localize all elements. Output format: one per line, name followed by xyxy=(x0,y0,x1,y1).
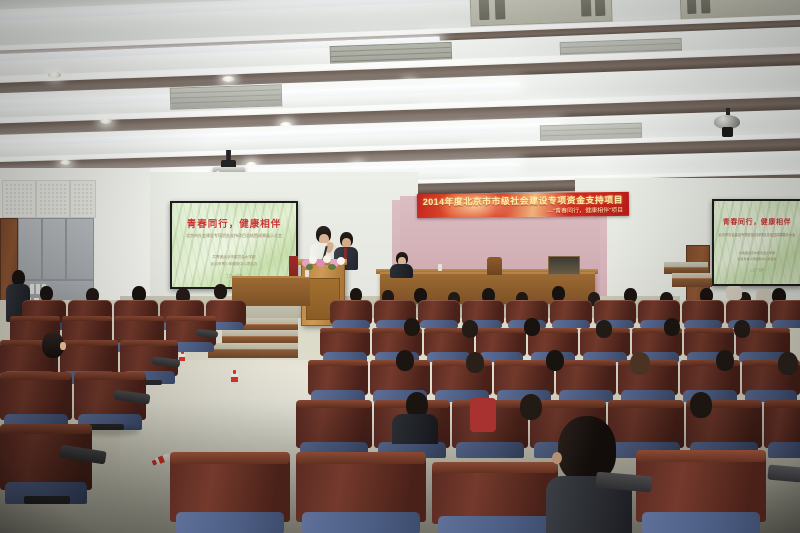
downlight xyxy=(60,160,71,165)
stage-chair xyxy=(487,257,502,275)
audience-head xyxy=(404,318,420,336)
slide-org-2: 北京市青少年服务中心项目办 xyxy=(172,262,296,267)
slide-date: 二〇一五年 xyxy=(714,268,800,272)
slide-subtitle: 北京市社会建设专项资金支持项目总结暨成果展示大会 xyxy=(714,232,800,237)
stage-step-riser xyxy=(208,349,298,358)
audience-head xyxy=(690,392,712,418)
auditorium-seat[interactable] xyxy=(770,300,800,328)
auditorium-seat[interactable] xyxy=(764,400,800,458)
audience-head xyxy=(396,350,414,371)
audience-head xyxy=(462,320,478,338)
auditorium-seat[interactable] xyxy=(0,372,72,430)
auditorium-seat[interactable] xyxy=(418,300,460,328)
auditorium-seat[interactable] xyxy=(296,400,372,458)
wall-switch[interactable] xyxy=(30,284,34,294)
wall-panel xyxy=(66,218,94,280)
audience-body xyxy=(392,414,438,444)
audience-head xyxy=(524,318,540,336)
audience-head xyxy=(734,320,750,338)
desk-equipment xyxy=(548,256,580,275)
audience-head xyxy=(520,394,542,420)
event-banner: 2014年度北京市市级社会建设专项资金支持项目 —“青春同行，健康相伴”项目 xyxy=(417,192,629,218)
audience-red-jacket xyxy=(470,398,496,432)
left-screen-surface: 青春同行，健康相伴 北京市社会建设专项资金支持项目总结暨成果展示大会 共青团北京… xyxy=(172,203,296,287)
auditorium-seat[interactable] xyxy=(556,360,616,402)
audience-head xyxy=(778,352,798,375)
audience-face xyxy=(60,342,66,350)
audience-head xyxy=(630,352,650,375)
wall-panel xyxy=(42,218,66,280)
water-bottle xyxy=(231,370,238,384)
ceiling xyxy=(0,0,800,196)
auditorium-seat[interactable] xyxy=(330,300,372,328)
audience-body xyxy=(726,286,742,300)
acoustic-panel xyxy=(2,180,36,218)
stage-step-riser xyxy=(672,278,712,287)
slide-title: 青春同行，健康相伴 xyxy=(172,216,296,230)
flower-arrangement xyxy=(300,254,348,270)
downlight xyxy=(222,76,235,82)
auditorium-seat[interactable] xyxy=(476,328,526,362)
slide-org-2: 北京市青少年服务中心项目办 xyxy=(714,257,800,262)
audience-head xyxy=(40,286,53,301)
auditorium-photo: 2014年度北京市市级社会建设专项资金支持项目 —“青春同行，健康相伴”项目 青… xyxy=(0,0,800,533)
auditorium-seat[interactable] xyxy=(308,360,368,402)
audience-head xyxy=(466,352,484,373)
auditorium-seat[interactable] xyxy=(432,462,558,533)
auditorium-seat[interactable] xyxy=(636,450,766,533)
auditorium-seat[interactable] xyxy=(682,300,724,328)
audience-head xyxy=(716,350,734,371)
seat-base xyxy=(24,496,70,504)
desk-bottle xyxy=(305,270,309,277)
slide-subtitle: 北京市社会建设专项资金支持项目总结暨成果展示大会 xyxy=(172,233,296,239)
audience-head xyxy=(596,320,612,338)
right-screen-surface: 青春同行，健康相伴 北京市社会建设专项资金支持项目总结暨成果展示大会 共青团北京… xyxy=(714,201,800,284)
right-projection-screen: 青春同行，健康相伴 北京市社会建设专项资金支持项目总结暨成果展示大会 共青团北京… xyxy=(712,199,800,286)
audience-head xyxy=(214,284,227,299)
acoustic-panel xyxy=(36,180,70,218)
downlight xyxy=(48,72,61,78)
auditorium-seat[interactable] xyxy=(0,424,92,504)
camera-housing xyxy=(722,127,733,137)
foreground-person-ear xyxy=(552,452,562,464)
acoustic-panel xyxy=(70,180,96,218)
audience-head xyxy=(552,286,565,301)
desk-bottle xyxy=(438,264,442,271)
slide-org-1: 共青团北京市委员会大学部 xyxy=(172,255,296,260)
audience-head xyxy=(546,350,564,371)
slide-title: 青春同行，健康相伴 xyxy=(714,217,800,227)
auditorium-seat[interactable] xyxy=(320,328,370,362)
auditorium-seat[interactable] xyxy=(550,300,592,328)
slide-org-1: 共青团北京市委员会大学部 xyxy=(714,251,800,256)
seat-armrest xyxy=(767,465,800,483)
downlight xyxy=(100,118,112,124)
auditorium-seat[interactable] xyxy=(296,452,426,533)
audience-head xyxy=(664,318,680,336)
auditorium-seat[interactable] xyxy=(170,452,290,533)
banner-sub-text: —“青春同行，健康相伴”项目 xyxy=(547,205,623,215)
moderator-body xyxy=(390,264,413,278)
air-vent xyxy=(170,84,283,110)
